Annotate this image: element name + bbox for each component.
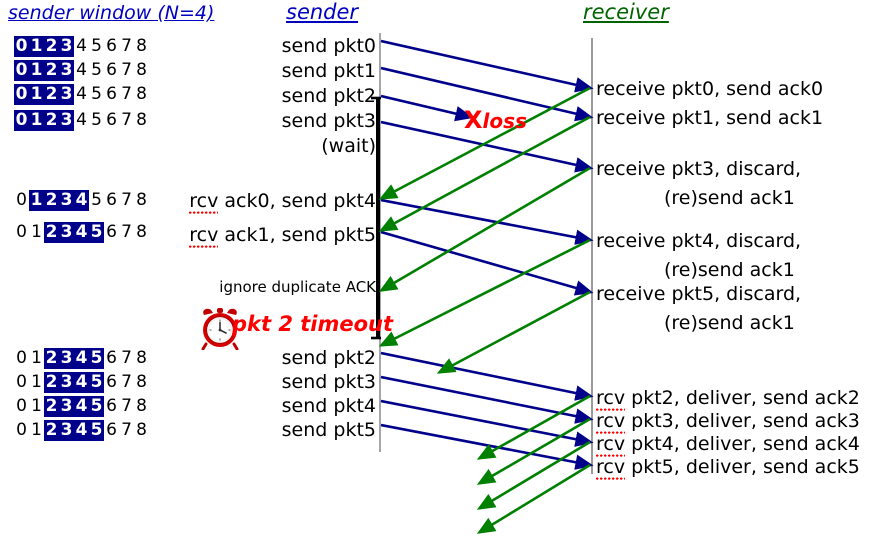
sender-window-row: 012345678 [14,84,149,105]
sender-window-row: 012345678 [14,396,149,417]
receiver-event: receive pkt4, discard, [596,230,801,252]
window-slot-inactive: 7 [119,110,134,131]
window-slot-inactive: 8 [134,420,149,441]
misspelled-word: rcv [189,224,218,248]
arrow-pkt5-retx [381,425,590,465]
window-slot-active: 1 [29,36,44,57]
window-slot-inactive: 7 [119,60,134,81]
sender-event: send pkt2 [282,347,376,369]
receiver-event: (re)send ack1 [664,259,795,281]
ack-arrows [382,88,590,532]
window-slot-inactive: 5 [89,60,104,81]
window-slot-active: 3 [59,420,74,441]
window-slot-active: 4 [74,190,89,211]
loss-marker: Xloss [464,106,527,134]
window-slot-inactive: 0 [14,348,29,369]
sender-window-row: 012345678 [14,110,149,131]
window-slot-active: 1 [29,60,44,81]
window-slot-active: 0 [14,36,29,57]
window-slot-inactive: 7 [119,36,134,57]
window-slot-active: 2 [44,420,59,441]
window-slot-inactive: 4 [74,84,89,105]
sender-event: send pkt1 [282,60,376,82]
window-slot-inactive: 6 [104,348,119,369]
window-slot-inactive: 6 [104,60,119,81]
window-slot-inactive: 1 [29,372,44,393]
window-slot-active: 3 [59,36,74,57]
receiver-event: (re)send ack1 [664,312,795,334]
window-slot-inactive: 5 [89,84,104,105]
sender-event: rcv ack0, send pkt4 [189,190,376,212]
window-slot-active: 3 [59,60,74,81]
window-slot-inactive: 4 [74,36,89,57]
window-slot-inactive: 7 [119,222,134,243]
window-slot-inactive: 8 [134,396,149,417]
window-slot-inactive: 6 [104,372,119,393]
sender-window-row: 012345678 [14,222,149,243]
window-slot-active: 0 [14,84,29,105]
window-slot-inactive: 5 [89,36,104,57]
window-slot-inactive: 1 [29,348,44,369]
window-slot-active: 3 [59,110,74,131]
window-slot-inactive: 6 [104,222,119,243]
sender-window-row: 012345678 [14,190,149,211]
window-slot-active: 2 [44,348,59,369]
window-slot-active: 3 [59,372,74,393]
window-slot-inactive: 6 [104,110,119,131]
arrow-pkt4 [381,200,590,240]
window-slot-active: 4 [74,348,89,369]
window-slot-active: 3 [59,190,74,211]
misspelled-word: rcv [189,190,218,214]
window-slot-inactive: 4 [74,60,89,81]
window-slot-inactive: 7 [119,396,134,417]
window-slot-inactive: 8 [134,348,149,369]
sender-event: send pkt3 [282,110,376,132]
window-slot-inactive: 7 [119,348,134,369]
misspelled-word: rcv [596,456,625,480]
sender-event: (wait) [321,135,376,157]
window-slot-active: 2 [44,372,59,393]
window-slot-active: 3 [59,222,74,243]
window-slot-inactive: 1 [29,222,44,243]
window-slot-inactive: 5 [89,110,104,131]
misspelled-word: rcv [596,433,625,457]
window-slot-inactive: 6 [104,84,119,105]
window-slot-active: 1 [29,84,44,105]
misspelled-word: rcv [596,387,625,411]
window-slot-active: 0 [14,60,29,81]
sender-window-row: 012345678 [14,372,149,393]
timeout-label: pkt 2 timeout [232,312,393,336]
window-slot-active: 2 [44,190,59,211]
sender-window-row: 012345678 [14,36,149,57]
arrow-pkt2-retx [381,353,590,396]
loss-text: loss [483,109,527,133]
window-slot-active: 4 [74,396,89,417]
timelines [371,33,592,474]
window-slot-active: 4 [74,222,89,243]
receiver-event: receive pkt3, discard, [596,158,801,180]
receiver-event: receive pkt1, send ack1 [596,107,823,129]
window-slot-inactive: 7 [119,190,134,211]
window-slot-active: 3 [59,348,74,369]
window-slot-active: 5 [89,420,104,441]
window-slot-inactive: 0 [14,420,29,441]
receiver-event: receive pkt5, discard, [596,283,801,305]
window-slot-active: 2 [44,396,59,417]
window-slot-active: 2 [44,110,59,131]
sender-event: send pkt0 [282,35,376,57]
window-slot-inactive: 1 [29,420,44,441]
window-slot-inactive: 5 [89,190,104,211]
window-slot-active: 2 [44,84,59,105]
sender-event: send pkt3 [282,371,376,393]
window-slot-inactive: 7 [119,420,134,441]
receiver-event: rcv pkt5, deliver, send ack5 [596,456,860,478]
window-slot-inactive: 6 [104,36,119,57]
sender-event: send pkt5 [282,419,376,441]
arrow-pkt2 [381,96,470,117]
window-slot-active: 3 [59,84,74,105]
arrow-ack2 [480,396,590,458]
arrow-pkt5 [381,232,590,292]
sender-window-row: 012345678 [14,60,149,81]
sender-event: send pkt4 [282,395,376,417]
window-slot-inactive: 8 [134,84,149,105]
window-slot-inactive: 7 [119,372,134,393]
window-slot-inactive: 7 [119,84,134,105]
window-slot-active: 4 [74,420,89,441]
window-slot-active: 2 [44,36,59,57]
window-slot-active: 5 [89,372,104,393]
window-slot-inactive: 6 [104,190,119,211]
receiver-event: rcv pkt4, deliver, send ack4 [596,433,860,455]
window-slot-inactive: 8 [134,60,149,81]
window-slot-active: 3 [59,396,74,417]
loss-x-glyph: X [464,106,483,134]
window-slot-active: 2 [44,222,59,243]
sender-window-row: 012345678 [14,348,149,369]
window-slot-inactive: 4 [74,110,89,131]
arrow-ack1-dup2 [382,240,590,345]
sender-window-row: 012345678 [14,420,149,441]
window-slot-active: 5 [89,396,104,417]
arrow-pkt0 [381,41,590,88]
sender-event: rcv ack1, send pkt5 [189,224,376,246]
gbn-timing-diagram: sender window (N=4) sender receiver 0123… [0,0,875,542]
window-slot-inactive: 8 [134,110,149,131]
window-slot-active: 1 [29,110,44,131]
window-slot-inactive: 6 [104,396,119,417]
receiver-event: receive pkt0, send ack0 [596,78,823,100]
window-slot-inactive: 0 [14,396,29,417]
window-slot-active: 4 [74,372,89,393]
window-slot-active: 1 [29,190,44,211]
misspelled-word: rcv [596,410,625,434]
window-slot-inactive: 8 [134,372,149,393]
window-slot-active: 0 [14,110,29,131]
window-slot-inactive: 6 [104,420,119,441]
window-slot-active: 5 [89,348,104,369]
window-slot-inactive: 8 [134,36,149,57]
sender-event: send pkt2 [282,85,376,107]
ignore-duplicate-ack-note: ignore duplicate ACK [219,276,376,298]
window-slot-inactive: 0 [14,222,29,243]
receiver-event: rcv pkt3, deliver, send ack3 [596,410,860,432]
arrow-ack1-dup1 [382,168,590,290]
window-slot-active: 5 [89,222,104,243]
window-slot-active: 2 [44,60,59,81]
window-slot-inactive: 0 [14,372,29,393]
window-slot-inactive: 8 [134,222,149,243]
window-slot-inactive: 8 [134,190,149,211]
receiver-event: rcv pkt2, deliver, send ack2 [596,387,860,409]
window-slot-inactive: 1 [29,396,44,417]
window-slot-inactive: 0 [14,190,29,211]
receiver-event: (re)send ack1 [664,187,795,209]
